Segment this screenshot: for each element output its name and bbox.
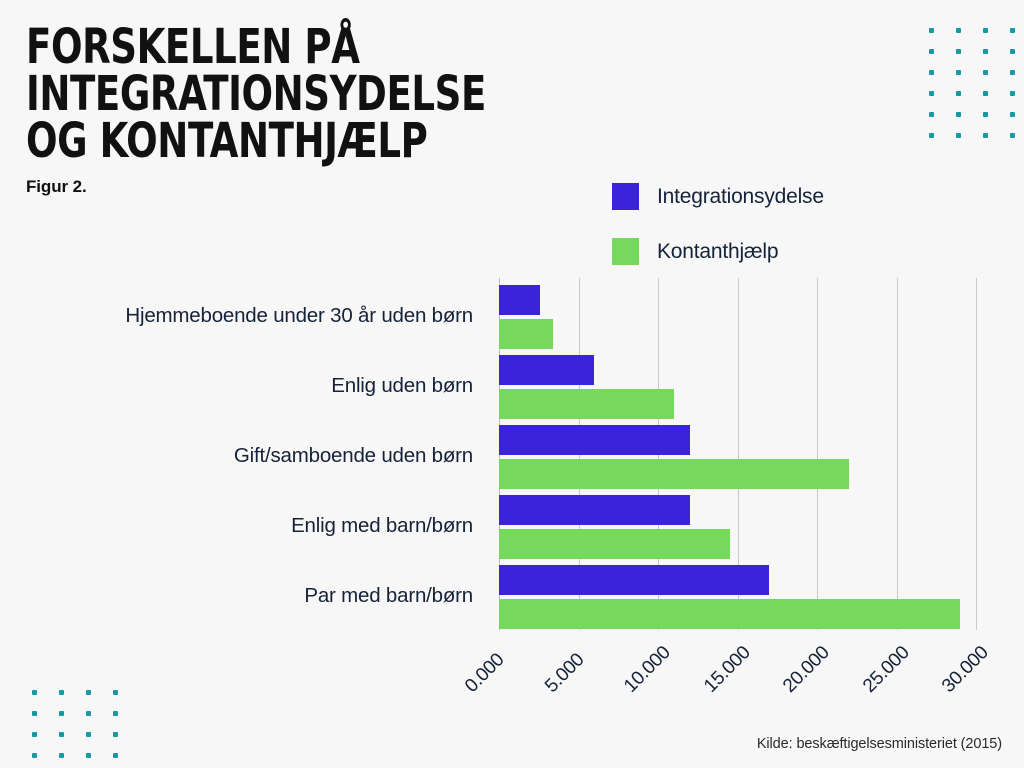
x-tick-label: 25.000 <box>859 642 914 697</box>
category-axis-labels: Hjemmeboende under 30 år uden børnEnlig … <box>0 278 487 630</box>
decorative-dot <box>975 41 996 62</box>
decorative-dot <box>105 703 126 724</box>
decorative-dot <box>1002 41 1023 62</box>
decorative-dot <box>948 125 969 146</box>
x-tick-label: 5.000 <box>541 649 589 697</box>
decorative-dot <box>921 83 942 104</box>
decorative-dot <box>1002 125 1023 146</box>
decorative-dot <box>78 724 99 745</box>
x-axis-tick-labels: 0.0005.00010.00015.00020.00025.00030.000 <box>499 640 1019 720</box>
x-tick-label: 30.000 <box>938 642 993 697</box>
decorative-dot <box>921 62 942 83</box>
bar[interactable] <box>499 285 540 315</box>
category-label: Hjemmeboende under 30 år uden børn <box>0 304 487 328</box>
chart-area: Hjemmeboende under 30 år uden børnEnlig … <box>0 278 1024 638</box>
category-label: Enlig med barn/børn <box>0 514 487 538</box>
bar[interactable] <box>499 495 690 525</box>
decorative-dot <box>51 745 72 766</box>
decorative-dot <box>105 724 126 745</box>
decorative-dot <box>78 703 99 724</box>
bar[interactable] <box>499 319 553 349</box>
bar[interactable] <box>499 565 769 595</box>
decorative-dot-grid-bottom-left <box>24 682 126 766</box>
decorative-dot <box>948 104 969 125</box>
bar[interactable] <box>499 459 849 489</box>
category-label: Par med barn/børn <box>0 584 487 608</box>
legend-label-series-1: Integrationsydelse <box>657 185 824 209</box>
x-tick-label: 0.000 <box>461 649 509 697</box>
decorative-dot <box>1002 20 1023 41</box>
decorative-dot <box>948 83 969 104</box>
legend-swatch-icon-series-1 <box>612 183 639 210</box>
category-label: Enlig uden børn <box>0 374 487 398</box>
decorative-dot <box>78 682 99 703</box>
decorative-dot <box>24 724 45 745</box>
decorative-dot <box>975 104 996 125</box>
decorative-dot <box>51 682 72 703</box>
decorative-dot <box>105 745 126 766</box>
decorative-dot <box>105 682 126 703</box>
decorative-dot <box>948 62 969 83</box>
category-label: Gift/samboende uden børn <box>0 444 487 468</box>
x-tick-label: 15.000 <box>700 642 755 697</box>
decorative-dot <box>1002 104 1023 125</box>
decorative-dot <box>78 745 99 766</box>
chart-legend: Integrationsydelse Kontanthjælp <box>612 183 824 293</box>
decorative-dot <box>975 20 996 41</box>
decorative-dot-grid-top-right <box>921 20 1023 146</box>
bar[interactable] <box>499 599 960 629</box>
x-tick-label: 20.000 <box>779 642 834 697</box>
legend-item-integrationsydelse[interactable]: Integrationsydelse <box>612 183 824 210</box>
bar[interactable] <box>499 425 690 455</box>
decorative-dot <box>921 125 942 146</box>
decorative-dot <box>24 745 45 766</box>
decorative-dot <box>24 682 45 703</box>
bar[interactable] <box>499 529 730 559</box>
bar[interactable] <box>499 389 674 419</box>
legend-item-kontanthjaelp[interactable]: Kontanthjælp <box>612 238 824 265</box>
decorative-dot <box>975 62 996 83</box>
bar[interactable] <box>499 355 594 385</box>
decorative-dot <box>948 20 969 41</box>
decorative-dot <box>24 703 45 724</box>
plot-area <box>499 278 999 630</box>
decorative-dot <box>948 41 969 62</box>
decorative-dot <box>51 724 72 745</box>
decorative-dot <box>975 125 996 146</box>
decorative-dot <box>1002 62 1023 83</box>
source-note: Kilde: beskæftigelsesministeriet (2015) <box>757 736 1002 752</box>
decorative-dot <box>921 20 942 41</box>
page-title: FORSKELLEN PÅ INTEGRATIONSYDELSE OG KONT… <box>26 24 766 165</box>
decorative-dot <box>975 83 996 104</box>
decorative-dot <box>921 41 942 62</box>
chart-header: FORSKELLEN PÅ INTEGRATIONSYDELSE OG KONT… <box>26 24 886 197</box>
decorative-dot <box>921 104 942 125</box>
decorative-dot <box>51 703 72 724</box>
decorative-dot <box>1002 83 1023 104</box>
legend-swatch-icon-series-2 <box>612 238 639 265</box>
x-tick-label: 10.000 <box>620 642 675 697</box>
legend-label-series-2: Kontanthjælp <box>657 240 778 264</box>
bar-series-container <box>499 278 999 630</box>
